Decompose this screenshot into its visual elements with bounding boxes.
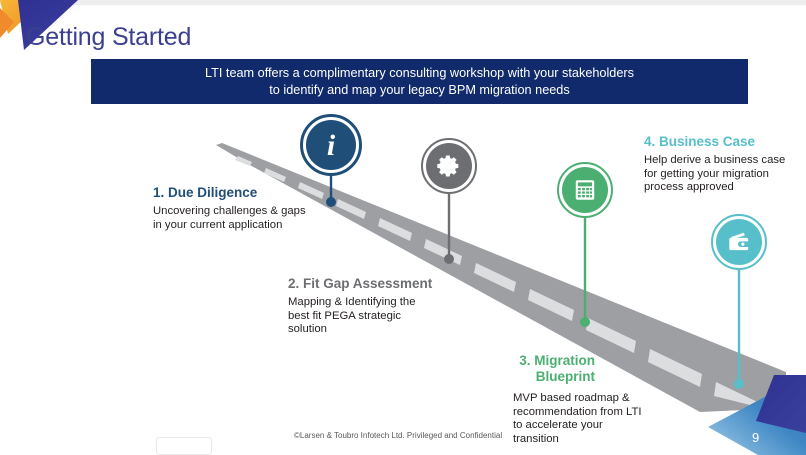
step-4-heading: 4. Business Case bbox=[644, 134, 794, 150]
slide-canvas: Getting Started LTI team offers a compli… bbox=[0, 0, 806, 455]
gear-icon bbox=[435, 152, 463, 180]
page-number: 9 bbox=[752, 430, 759, 445]
step-block-1: 1. Due Diligence Uncovering challenges &… bbox=[153, 185, 313, 232]
step-2-heading: 2. Fit Gap Assessment bbox=[288, 276, 438, 292]
wallet-icon bbox=[725, 228, 753, 256]
step-block-4: 4. Business Case Help derive a business … bbox=[644, 134, 794, 195]
post-dot-step-3 bbox=[580, 317, 590, 327]
post-dot-step-4 bbox=[734, 379, 744, 389]
step-3-heading: 3. Migration Blueprint bbox=[470, 353, 595, 385]
post-dot-step-2 bbox=[444, 254, 454, 264]
pin-step-2[interactable] bbox=[421, 138, 477, 194]
step-block-2: 2. Fit Gap Assessment Mapping & Identify… bbox=[288, 276, 438, 337]
step-3-body: MVP based roadmap & recommendation from … bbox=[513, 392, 645, 446]
footer-copyright: ©Larsen & Toubro Infotech Ltd. Privilege… bbox=[294, 431, 502, 440]
step-2-body: Mapping & Identifying the best fit PEGA … bbox=[288, 296, 438, 337]
roadmap-graphic bbox=[0, 0, 806, 455]
step-1-heading: 1. Due Diligence bbox=[153, 185, 313, 201]
calculator-icon bbox=[572, 177, 598, 203]
step-1-body: Uncovering challenges & gaps in your cur… bbox=[153, 205, 313, 232]
step-block-3: 3. Migration Blueprint bbox=[470, 353, 595, 385]
pin-step-3[interactable] bbox=[557, 162, 613, 218]
pin-step-4[interactable] bbox=[711, 214, 767, 270]
step-block-3-body: MVP based roadmap & recommendation from … bbox=[513, 392, 645, 446]
road-edge-cap bbox=[770, 372, 786, 410]
placeholder-box bbox=[156, 437, 212, 455]
pin-step-1[interactable]: i bbox=[300, 114, 362, 176]
post-dot-step-1 bbox=[326, 197, 336, 207]
svg-text:i: i bbox=[327, 129, 336, 162]
info-icon: i bbox=[318, 128, 344, 162]
step-4-body: Help derive a business case for getting … bbox=[644, 154, 794, 195]
